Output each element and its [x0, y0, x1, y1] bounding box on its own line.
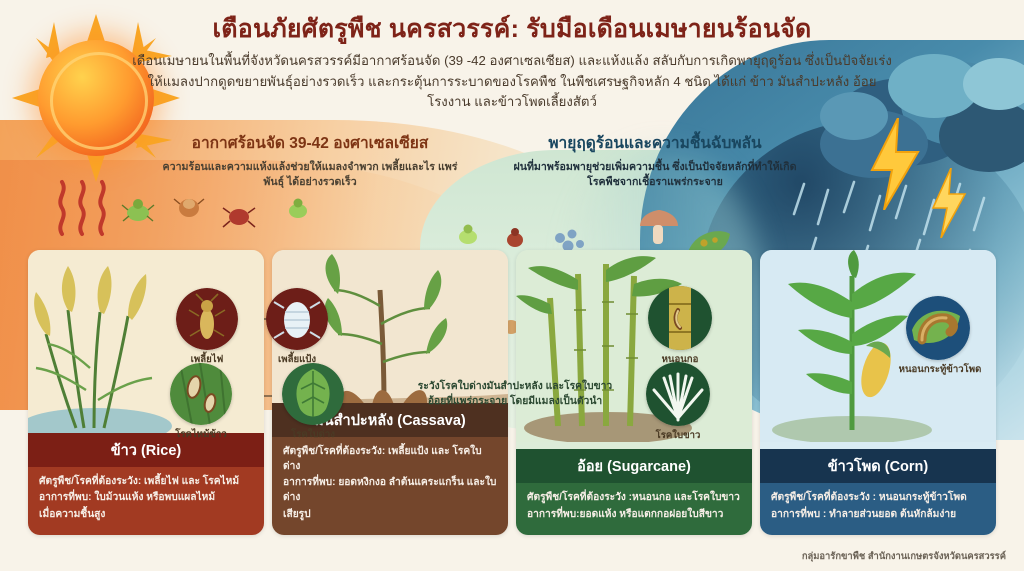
panel-rice-extra: เมื่อความชื้นสูง	[39, 507, 253, 522]
armyworm-icon	[906, 296, 970, 360]
callout-heat-heading: อากาศร้อนจัด 39-42 องศาเซลเซียส	[160, 130, 460, 155]
panel-corn[interactable]: ข้าวโพด (Corn) ศัตรูพืช/โรคที่ต้องระวัง …	[760, 250, 996, 535]
panel-sugarcane-symptom: อาการที่พบ:ยอดแห้ง หรือแตกกอฝอยใบสีขาว	[527, 507, 741, 522]
white-leaf-icon	[646, 362, 710, 426]
panel-cassava-symptom: อาการที่พบ: ยอดหงิกงอ ลำต้นแคระแกร็น และ…	[283, 475, 497, 506]
bubble-rice-thrips[interactable]	[176, 288, 238, 350]
panel-corn-title: ข้าวโพด (Corn)	[760, 449, 996, 483]
bubble-label-cassava-mosaic: โรคใบด่าง	[268, 427, 358, 442]
sugarcane-illustration	[516, 250, 752, 442]
panel-sugarcane-pest: ศัตรูพืช/โรคที่ต้องระวัง :หนอนกอ และโรคใ…	[527, 490, 741, 505]
rice-blast-lesion-icon	[170, 363, 232, 425]
callout-heat-body: ความร้อนและความแห้งแล้งช่วยให้แมลงจำพวก …	[160, 160, 460, 191]
panel-corn-body: ศัตรูพืช/โรคที่ต้องระวัง : หนอนกระทู้ข้า…	[760, 483, 996, 535]
panel-sugarcane-title: อ้อย (Sugarcane)	[516, 449, 752, 483]
panel-rice-pest: ศัตรูพืช/โรคที่ต้องระวัง: เพลี้ยไฟ และ โ…	[39, 474, 253, 489]
rice-illustration	[28, 250, 264, 442]
panel-sugarcane-body: ศัตรูพืช/โรคที่ต้องระวัง :หนอนกอ และโรคใ…	[516, 483, 752, 535]
mite-sprite-icon	[222, 200, 256, 230]
callout-storm-heading: พายุฤดูร้อนและความชื้นฉับพลัน	[505, 130, 805, 155]
aphid-sprite-icon	[120, 196, 156, 226]
bubble-cane-borer[interactable]	[648, 286, 712, 350]
bubble-cane-whiteleaf[interactable]	[646, 362, 710, 426]
callout-storm: พายุฤดูร้อนและความชื้นฉับพลัน ฝนที่มาพร้…	[505, 130, 805, 191]
thrips-icon	[176, 288, 238, 350]
bubble-rice-blast[interactable]	[170, 363, 232, 425]
stem-borer-icon	[648, 286, 712, 350]
panel-rice-symptom: อาการที่พบ: ใบม้วนแห้ง หรือพบแผลไหม้	[39, 490, 253, 505]
page-title: เตือนภัยศัตรูพืช นครสวรรค์: รับมือเดือนเ…	[112, 14, 912, 45]
bubble-label-cassava-mealy: เพลี้ยแป้ง	[252, 352, 342, 367]
mosaic-leaf-icon	[282, 363, 344, 425]
mushroom-icon	[636, 208, 682, 248]
bubble-cassava-mosaic[interactable]	[282, 363, 344, 425]
panel-cassava-pest: ศัตรูพืช/โรคที่ต้องระวัง: เพลี้ยแป้ง และ…	[283, 444, 497, 475]
callout-heat: อากาศร้อนจัด 39-42 องศาเซลเซียส ความร้อน…	[160, 130, 460, 191]
lightning-bolt-icon-small	[926, 168, 970, 238]
bubble-label-rice-blast: โรคไหม้ข้าว	[156, 427, 246, 442]
panel-cassava-extra: เสียรูป	[283, 507, 497, 522]
header-block: เตือนภัยศัตรูพืช นครสวรรค์: รับมือเดือนเ…	[112, 10, 912, 113]
bubble-label-corn-armyworm: หนอนกระทู้ข้าวโพด	[893, 362, 987, 377]
mealybug-sprite-icon	[172, 192, 206, 222]
callout-storm-body: ฝนที่มาพร้อมพายุช่วยเพิ่มความชื้น ซึ่งเป…	[505, 160, 805, 191]
infographic-canvas: เตือนภัยศัตรูพืช นครสวรรค์: รับมือเดือนเ…	[0, 0, 1024, 571]
panel-corn-symptom: อาการที่พบ : ทำลายส่วนยอด ต้นหักล้มง่าย	[771, 507, 985, 522]
mealybug-icon	[266, 288, 328, 350]
panel-rice-body: ศัตรูพืช/โรคที่ต้องระวัง: เพลี้ยไฟ และ โ…	[28, 467, 264, 535]
heat-wave-icon	[52, 178, 124, 238]
bubble-corn-armyworm[interactable]	[906, 296, 970, 360]
footer-credit: กลุ่มอารักขาพืช สำนักงานเกษตรจังหวัดนครส…	[802, 549, 1006, 564]
bubble-label-cane-whiteleaf: โรคใบขาว	[633, 428, 723, 443]
leafhopper-sprite-icon	[282, 196, 314, 224]
whitefly-sprite-icon	[452, 222, 484, 250]
lightning-bolt-icon	[862, 118, 926, 210]
panel-cassava-body: ศัตรูพืช/โรคที่ต้องระวัง: เพลี้ยแป้ง และ…	[272, 437, 508, 535]
page-subtitle: เดือนเมษายนในพื้นที่จังหวัดนครสวรรค์มีอา…	[132, 51, 892, 112]
planthopper-sprite-icon	[500, 224, 530, 252]
center-note: ระวังโรคใบด่างมันสำปะหลัง และโรคใบขาวอ้อ…	[410, 380, 620, 409]
panel-corn-pest: ศัตรูพืช/โรคที่ต้องระวัง : หนอนกระทู้ข้า…	[771, 490, 985, 505]
bubble-cassava-mealybug[interactable]	[266, 288, 328, 350]
